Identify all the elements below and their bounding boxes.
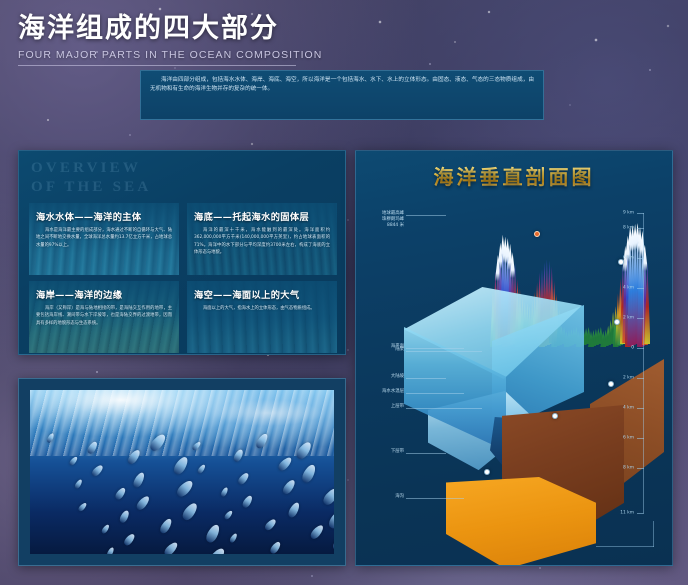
chart-title-wrap: 海洋垂直剖面图: [356, 161, 672, 190]
axis-tick-label: 8 km: [623, 466, 634, 471]
card-body: 海洋的最深十千米，海水能触到的最深处。海洋面积约362,000,000平方千米(…: [194, 227, 330, 257]
overview-card-grid: 海水水体——海洋的主体 海水是海洋最主要的组成部分，海水通过不断的自循环与大气、…: [29, 203, 337, 353]
axis-tick: [637, 258, 644, 259]
leader-line-7: [406, 498, 464, 499]
axis-tick: [637, 318, 644, 319]
axis-tick: [637, 213, 644, 214]
zone-label-7: 海沟: [360, 494, 404, 500]
card-body: 海岸（又称岸）是海与陆地相接的带，是海陆交互作用的地带，主要包括海岸线、潮间带与…: [36, 305, 172, 327]
overview-panel: OVERVIEW OF THE SEA 海水水体——海洋的主体 海水是海洋最主要…: [18, 150, 346, 355]
card-seabed[interactable]: 海底——托起海水的固体层 海洋的最深十千米，海水能触到的最深处。海洋面积约362…: [187, 203, 337, 275]
card-heading: 海水水体——海洋的主体: [36, 209, 172, 223]
intro-text: 海洋由四部分组成，包括海水水体、海岸、海底、海空，所以海洋是一个包括海水、水下、…: [150, 76, 534, 94]
peak-marker[interactable]: [534, 231, 540, 237]
leader-line-6: [406, 453, 446, 454]
axis-tick-label: 11 km: [620, 511, 634, 516]
page-header: 海洋组成的四大部分 FOUR MAJOR PARTS IN THE OCEAN …: [18, 14, 348, 66]
axis-tick: [637, 468, 644, 469]
axis-tick: [637, 513, 644, 514]
corner-bracket-horizontal: [596, 546, 654, 547]
underwater-photo: [30, 390, 334, 554]
overview-watermark: OVERVIEW OF THE SEA: [31, 159, 151, 197]
axis-tick-label: 2 km: [623, 376, 634, 381]
axis-tick-label: 9 km: [623, 211, 634, 216]
axis-tick: [637, 228, 644, 229]
page-subtitle: FOUR MAJOR PARTS IN THE OCEAN COMPOSITIO…: [18, 49, 348, 61]
card-sea-air[interactable]: 海空——海面以上的大气 海面以上的大气，指海水上的立体形态，由气态物质组成。: [187, 281, 337, 353]
axis-tick: [637, 288, 644, 289]
intro-box: 海洋由四部分组成，包括海水水体、海岸、海底、海空，所以海洋是一个包括海水、水下、…: [140, 70, 544, 120]
corner-bracket-vertical: [653, 521, 654, 547]
zone-label-6: 下层带: [360, 449, 404, 455]
chart-title: 海洋垂直剖面图: [434, 161, 595, 190]
axis-tick: [637, 438, 644, 439]
axis-tick-label: 4 km: [623, 286, 634, 291]
card-heading: 海空——海面以上的大气: [194, 287, 330, 301]
axis-tick: [637, 378, 644, 379]
trench-marker[interactable]: [484, 469, 490, 475]
card-body: 海水是海洋最主要的组成部分，海水通过不断的自循环与大气、陆地之间不断地交换水量，…: [36, 227, 172, 249]
zone-label-2: 陆架: [360, 347, 404, 353]
axis-tick: [637, 348, 644, 349]
card-heading: 海底——托起海水的固体层: [194, 209, 330, 223]
leader-line-5: [406, 408, 482, 409]
ocean-profile-panel: 海洋垂直剖面图 地球最高峰 珠穆朗玛峰 8844 米海平面陆架大陆坡海水水温层上…: [355, 150, 673, 566]
card-heading: 海岸——海洋的边缘: [36, 287, 172, 301]
axis-tick-label: 4 km: [623, 406, 634, 411]
axis-tick-label: 0: [631, 346, 634, 351]
page-title: 海洋组成的四大部分: [18, 14, 348, 44]
abyssal-marker[interactable]: [552, 413, 558, 419]
photo-frame: [18, 378, 346, 566]
axis-tick-label: 2 km: [623, 316, 634, 321]
title-divider: [18, 65, 296, 66]
axis-tick-label: 8 km: [623, 226, 634, 231]
card-body: 海面以上的大气，指海水上的立体形态，由气态物质组成。: [194, 305, 330, 312]
zone-label-4: 海水水温层: [360, 389, 404, 395]
depth-scale-axis: 9 km8 km6 km4 km2 km02 km4 km6 km8 km11 …: [606, 213, 658, 513]
card-seawater[interactable]: 海水水体——海洋的主体 海水是海洋最主要的组成部分，海水通过不断的自循环与大气、…: [29, 203, 179, 275]
zone-label-0: 地球最高峰 珠穆朗玛峰 8844 米: [360, 211, 404, 229]
leader-line-0: [406, 215, 446, 216]
axis-tick-label: 6 km: [623, 436, 634, 441]
leader-line-3: [406, 378, 446, 379]
leader-line-2: [406, 351, 482, 352]
axis-tick-label: 6 km: [623, 256, 634, 261]
axis-tick: [637, 408, 644, 409]
leader-line-1: [406, 348, 464, 349]
zone-label-3: 大陆坡: [360, 374, 404, 380]
zone-label-5: 上层带: [360, 404, 404, 410]
card-coast[interactable]: 海岸——海洋的边缘 海岸（又称岸）是海与陆地相接的带，是海陆交互作用的地带，主要…: [29, 281, 179, 353]
photo-foam: [30, 390, 334, 456]
leader-line-4: [406, 393, 464, 394]
